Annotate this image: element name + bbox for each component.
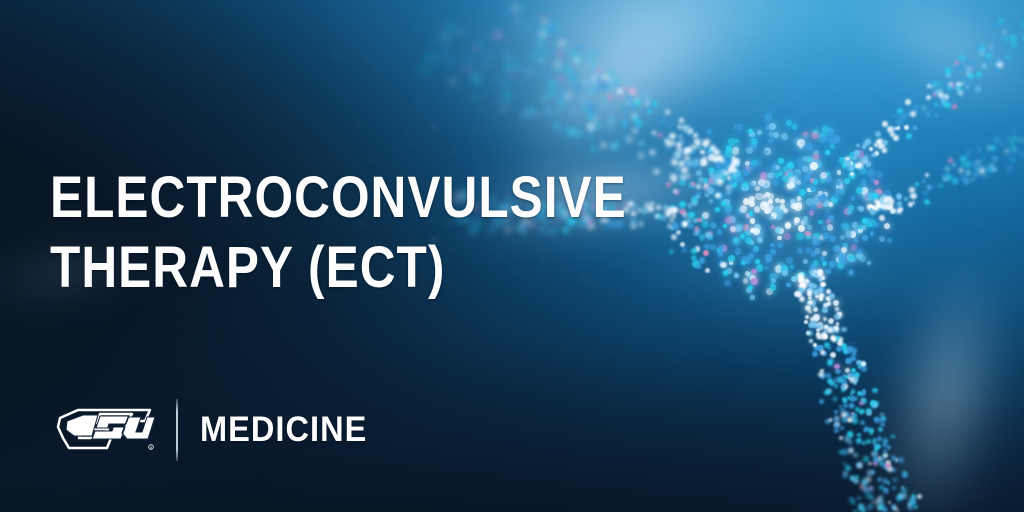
banner-title: Electroconvulsive Therapy (ECT) xyxy=(50,163,627,303)
promo-banner: Electroconvulsive Therapy (ECT) R xyxy=(0,0,1024,512)
brand-lockup: R MEDICINE xyxy=(52,398,380,462)
banner-title-line-2: Therapy (ECT) xyxy=(50,233,627,303)
lockup-divider xyxy=(176,399,178,461)
banner-title-line-1: Electroconvulsive xyxy=(50,163,627,233)
osu-brand-mark-icon: R xyxy=(52,401,156,459)
lockup-wordmark: MEDICINE xyxy=(200,410,367,450)
